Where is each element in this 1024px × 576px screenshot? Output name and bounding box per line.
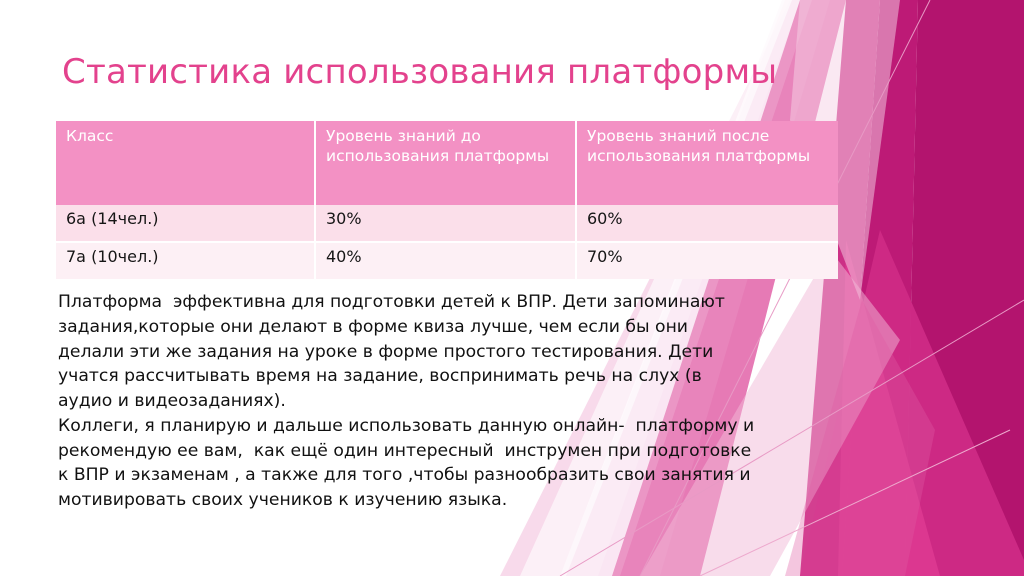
table-row: 6а (14чел.) 30% 60%	[56, 205, 838, 242]
cell-class: 7а (10чел.)	[56, 242, 315, 279]
cell-after: 70%	[576, 242, 838, 279]
table-body: 6а (14чел.) 30% 60% 7а (10чел.) 40% 70%	[56, 205, 838, 279]
cell-before: 30%	[315, 205, 576, 242]
column-header-after: Уровень знаний после использования платф…	[576, 121, 838, 205]
statistics-table-wrapper: Класс Уровень знаний до использования пл…	[56, 121, 780, 279]
deco-shape-magenta-wedge	[800, 0, 880, 576]
deco-shape-deep-magenta-right	[905, 0, 1024, 576]
statistics-table: Класс Уровень знаний до использования пл…	[56, 121, 838, 279]
deco-shape-mid-facet	[785, 300, 935, 576]
deco-shape-pink-blade-lower	[838, 240, 940, 576]
table-header-row: Класс Уровень знаний до использования пл…	[56, 121, 838, 205]
body-paragraph: Платформа эффективна для подготовки дете…	[58, 290, 758, 513]
column-header-class: Класс	[56, 121, 315, 205]
table-row: 7а (10чел.) 40% 70%	[56, 242, 838, 279]
page-title: Статистика использования платформы	[62, 52, 782, 93]
cell-before: 40%	[315, 242, 576, 279]
table-header: Класс Уровень знаний до использования пл…	[56, 121, 838, 205]
column-header-before: Уровень знаний до использования платформ…	[315, 121, 576, 205]
deco-shape-bright-pink-lower	[800, 230, 1024, 576]
cell-class: 6а (14чел.)	[56, 205, 315, 242]
deco-shape-magenta-band	[842, 0, 918, 576]
slide-canvas: Статистика использования платформы Класс…	[0, 0, 1024, 576]
cell-after: 60%	[576, 205, 838, 242]
